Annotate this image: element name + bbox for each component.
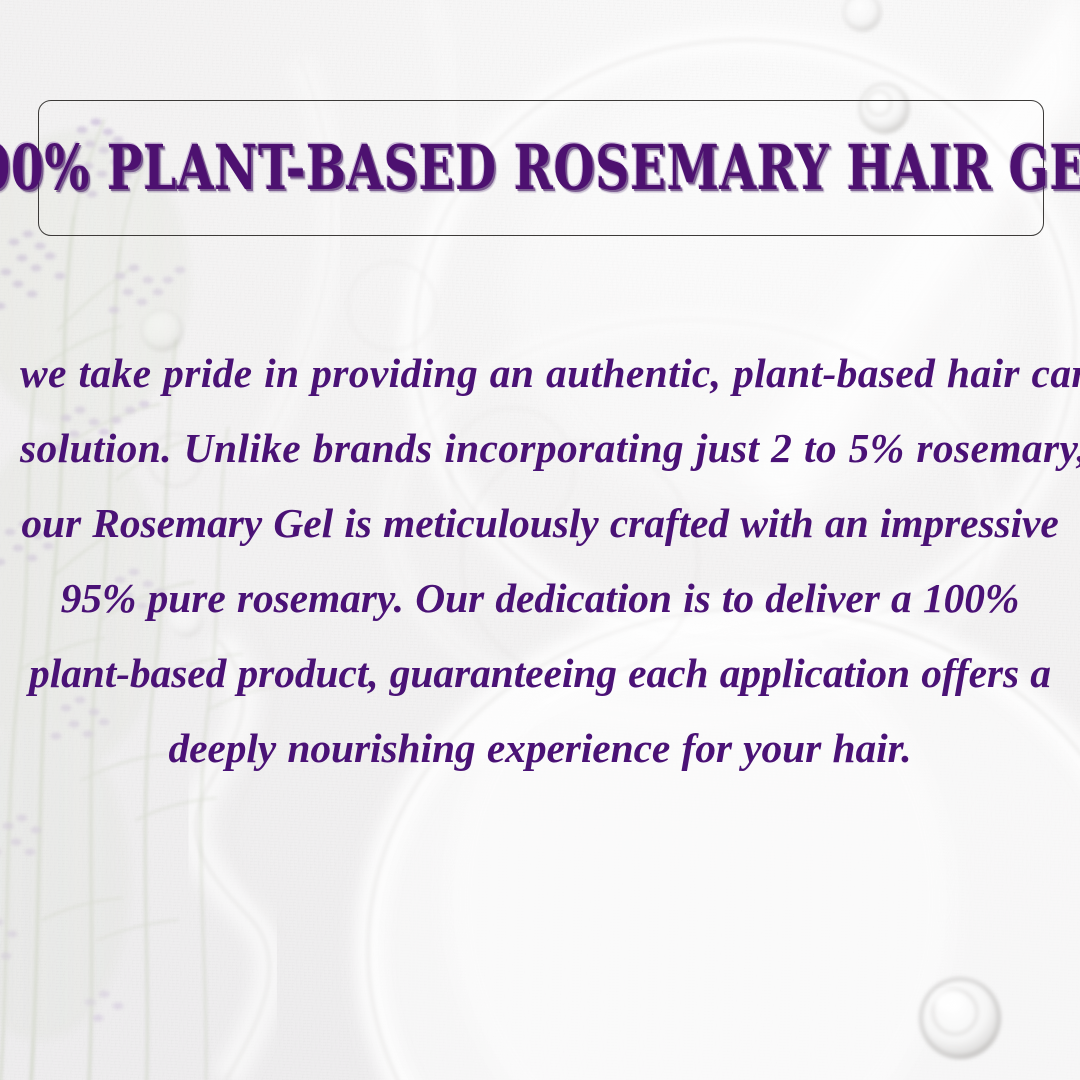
- body-line-4: 95% pure rosemary. Our dedication is to …: [20, 561, 1060, 636]
- poster-canvas: 100% PLANT-BASED ROSEMARY HAIR GEL: we t…: [0, 0, 1080, 1080]
- body-line-3: our Rosemary Gel is meticulously crafted…: [20, 486, 1060, 561]
- body-line-5: plant-based product, guaranteeing each a…: [20, 636, 1060, 711]
- gel-bead-upper-right-small: [843, 0, 881, 31]
- page-title: 100% PLANT-BASED ROSEMARY HAIR GEL:: [0, 137, 1080, 198]
- title-frame: 100% PLANT-BASED ROSEMARY HAIR GEL:: [38, 100, 1044, 236]
- body-paragraph: we take pride in providing an authentic,…: [20, 336, 1060, 786]
- body-line-1: we take pride in providing an authentic,…: [20, 336, 1060, 411]
- body-line-6: deeply nourishing experience for your ha…: [20, 711, 1060, 786]
- gel-bead-bottom-right: [920, 978, 1000, 1058]
- body-line-2: solution. Unlike brands incorporating ju…: [20, 411, 1060, 486]
